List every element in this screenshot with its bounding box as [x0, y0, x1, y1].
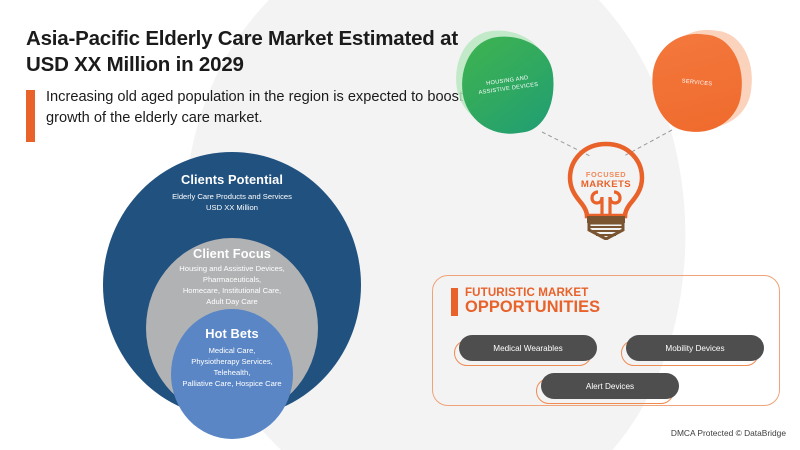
pill-body[interactable]: Medical Wearables: [459, 335, 597, 361]
circle-hot-bets: Hot Bets Medical Care,Physiotherapy Serv…: [171, 309, 293, 439]
circle-inner-title: Hot Bets: [171, 326, 293, 341]
bulb-label-focused: FOCUSED: [558, 170, 654, 179]
lightbulb-icon: [558, 140, 654, 240]
opportunity-label-3: Alert Devices: [586, 382, 634, 391]
circle-outer-title: Clients Potential: [103, 172, 361, 187]
circle-middle-body: Housing and Assistive Devices,Pharmaceut…: [146, 263, 318, 307]
headline-block: Asia-Pacific Elderly Care Market Estimat…: [26, 26, 496, 142]
opportunity-item-3[interactable]: Alert Devices: [541, 373, 679, 399]
page-title: Asia-Pacific Elderly Care Market Estimat…: [26, 26, 496, 78]
infographic-canvas: Asia-Pacific Elderly Care Market Estimat…: [0, 0, 800, 450]
concentric-circles-diagram: Clients Potential Elderly Care Products …: [103, 152, 361, 418]
pill-body[interactable]: Alert Devices: [541, 373, 679, 399]
subtitle-text: Increasing old aged population in the re…: [46, 87, 496, 128]
node-services-label: SERVICES: [681, 77, 712, 89]
opportunity-item-2[interactable]: Mobility Devices: [626, 335, 764, 361]
accent-bar: [26, 90, 35, 142]
opportunity-item-1[interactable]: Medical Wearables: [459, 335, 597, 361]
bulb-label-markets: MARKETS: [558, 179, 654, 190]
opportunity-label-1: Medical Wearables: [493, 344, 562, 353]
pill-body[interactable]: Mobility Devices: [626, 335, 764, 361]
circle-outer-body: Elderly Care Products and ServicesUSD XX…: [103, 191, 361, 213]
panel-accent-bar: [451, 288, 458, 316]
node-housing-label: HOUSING ANDASSISTIVE DEVICES: [477, 73, 539, 98]
circle-inner-body: Medical Care,Physiotherapy Services,Tele…: [171, 345, 293, 389]
opportunity-label-2: Mobility Devices: [665, 344, 724, 353]
circle-middle-title: Client Focus: [146, 246, 318, 261]
futuristic-opportunities-panel: FUTURISTIC MARKET OPPORTUNITIES Medical …: [432, 275, 780, 406]
subtitle-block: Increasing old aged population in the re…: [26, 87, 496, 142]
footer-credit: DMCA Protected © DataBridge: [671, 428, 786, 438]
panel-heading: FUTURISTIC MARKET OPPORTUNITIES: [451, 287, 600, 316]
focused-markets-diagram: HOUSING ANDASSISTIVE DEVICES SERVICES FO…: [450, 28, 790, 238]
panel-title-line2: OPPORTUNITIES: [465, 299, 600, 316]
